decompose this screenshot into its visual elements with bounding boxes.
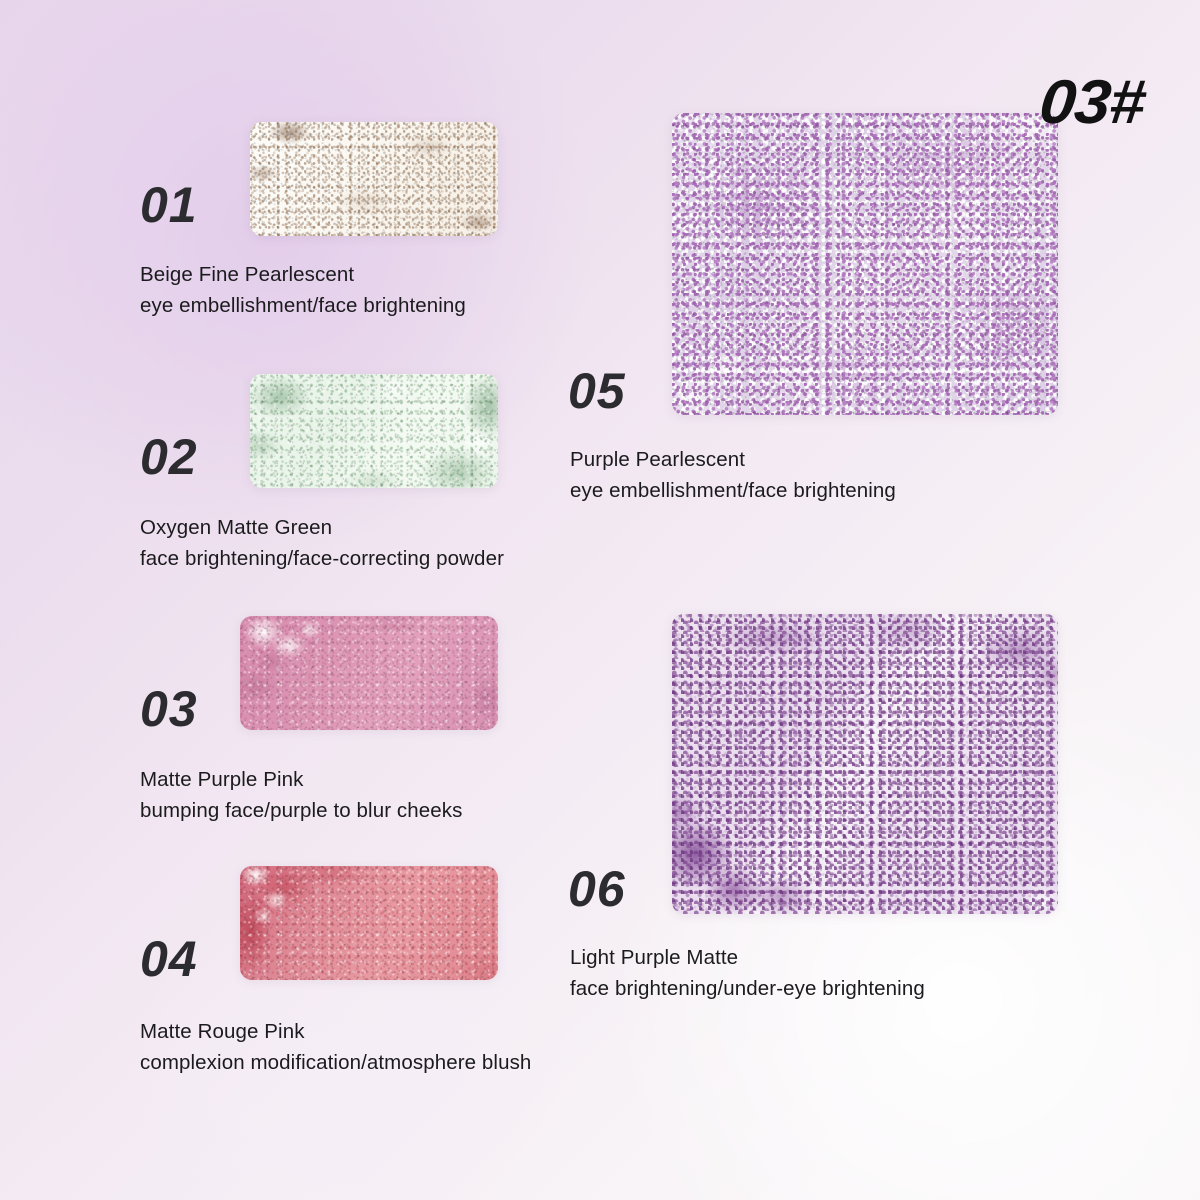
shade-usage-02: face brightening/face-correcting powder <box>140 549 504 570</box>
shade-usage-06: face brightening/under-eye brightening <box>570 979 925 1000</box>
purple-pearlescent-swatch <box>672 113 1058 415</box>
shade-usage-05: eye embellishment/face brightening <box>570 481 896 502</box>
shade-caption-01: Beige Fine Pearlescent eye embellishment… <box>140 265 466 316</box>
shade-usage-04: complexion modification/atmosphere blush <box>140 1053 531 1074</box>
shade-name-05: Purple Pearlescent <box>570 450 896 471</box>
shade-caption-03: Matte Purple Pink bumping face/purple to… <box>140 770 462 821</box>
shade-number-06: 06 <box>568 864 626 914</box>
shade-name-06: Light Purple Matte <box>570 948 925 969</box>
shade-name-03: Matte Purple Pink <box>140 770 462 791</box>
swatch-grain-02 <box>250 374 498 488</box>
shade-caption-05: Purple Pearlescent eye embellishment/fac… <box>570 450 896 501</box>
palette-number-badge: 03# <box>1036 72 1147 134</box>
shade-name-01: Beige Fine Pearlescent <box>140 265 466 286</box>
swatch-grain-03 <box>240 616 498 730</box>
matte-rouge-pink-swatch <box>240 866 498 980</box>
shade-number-01: 01 <box>140 180 198 230</box>
shade-caption-04: Matte Rouge Pink complexion modification… <box>140 1022 531 1073</box>
swatch-grain-05 <box>672 113 1058 415</box>
shade-usage-01: eye embellishment/face brightening <box>140 296 466 317</box>
swatch-grain-04 <box>240 866 498 980</box>
oxygen-matte-green-swatch <box>250 374 498 488</box>
background-haze-top-left <box>0 0 720 680</box>
swatch-grain-01 <box>250 122 498 236</box>
light-purple-matte-swatch <box>672 614 1058 914</box>
swatch-speckles-06 <box>672 614 1058 914</box>
shade-name-04: Matte Rouge Pink <box>140 1022 531 1043</box>
shade-number-05: 05 <box>568 366 626 416</box>
shade-number-02: 02 <box>140 432 198 482</box>
shade-name-02: Oxygen Matte Green <box>140 518 504 539</box>
beige-fine-pearlescent-swatch <box>250 122 498 236</box>
shade-usage-03: bumping face/purple to blur cheeks <box>140 801 462 822</box>
shade-caption-06: Light Purple Matte face brightening/unde… <box>570 948 925 999</box>
background-haze-bottom-left <box>40 800 660 1200</box>
matte-purple-pink-swatch <box>240 616 498 730</box>
shade-number-03: 03 <box>140 684 198 734</box>
shade-caption-02: Oxygen Matte Green face brightening/face… <box>140 518 504 569</box>
product-shade-chart: 03# 01 Beige Fine Pearlescent eye embell… <box>0 0 1200 1200</box>
shade-number-04: 04 <box>140 934 198 984</box>
